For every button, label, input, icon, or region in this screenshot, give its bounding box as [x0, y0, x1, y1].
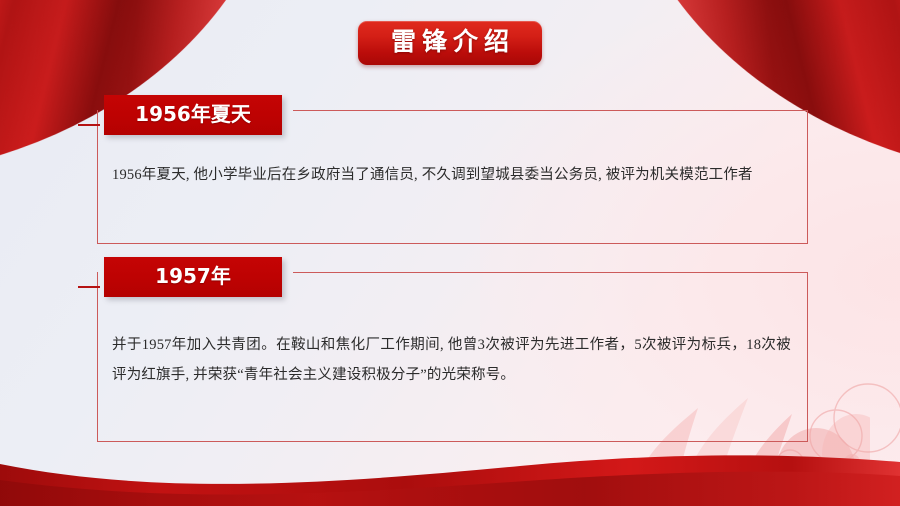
title-container: 雷锋介绍	[0, 21, 900, 65]
section-2-top-rule	[293, 272, 807, 273]
section-1-top-rule	[293, 110, 807, 111]
timeline-section-2: 1957年 并于1957年加入共青团。在鞍山和焦化厂工作期间, 他曾3次被评为先…	[97, 272, 808, 442]
page-title: 雷锋介绍	[358, 21, 542, 65]
section-2-left-stub	[78, 286, 100, 288]
section-1-frame: 1956年夏天 1956年夏天, 他小学毕业后在乡政府当了通信员, 不久调到望城…	[97, 110, 808, 244]
timeline-section-1: 1956年夏天 1956年夏天, 他小学毕业后在乡政府当了通信员, 不久调到望城…	[97, 110, 808, 244]
section-2-year-badge: 1957年	[104, 257, 282, 297]
section-1-year-badge: 1956年夏天	[104, 95, 282, 135]
section-2-body-text: 并于1957年加入共青团。在鞍山和焦化厂工作期间, 他曾3次被评为先进工作者，5…	[112, 330, 791, 391]
slide-canvas: 雷锋介绍 1956年夏天 1956年夏天, 他小学毕业后在乡政府当了通信员, 不…	[0, 0, 900, 506]
section-2-frame: 1957年 并于1957年加入共青团。在鞍山和焦化厂工作期间, 他曾3次被评为先…	[97, 272, 808, 442]
section-1-body-text: 1956年夏天, 他小学毕业后在乡政府当了通信员, 不久调到望城县委当公务员, …	[112, 160, 791, 190]
section-1-left-stub	[78, 124, 100, 126]
red-wave-band-decoration	[0, 436, 900, 506]
